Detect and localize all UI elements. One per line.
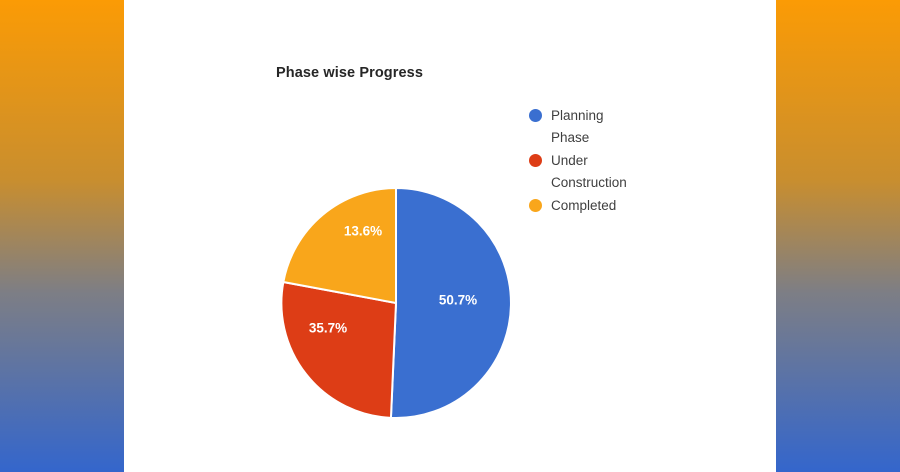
pie-data-label-under-construction: 35.7% [309,321,347,336]
legend-label-completed: Completed [551,195,616,217]
legend-label-line1: Under [551,153,588,168]
pie-data-label-planning-phase: 50.7% [439,293,477,308]
chart-legend[interactable]: PlanningPhase UnderConstruction Complete… [529,105,709,219]
legend-label-line2: Construction [551,175,627,190]
slide-canvas: Phase wise Progress 50.7% 35.7% 13.6% [0,0,900,472]
slide-content-panel: Phase wise Progress 50.7% 35.7% 13.6% [124,0,776,472]
pie-svg: 50.7% 35.7% 13.6% [281,188,511,418]
legend-color-swatch-icon [529,154,542,167]
legend-color-swatch-icon [529,109,542,122]
legend-color-swatch-icon [529,199,542,212]
chart-title: Phase wise Progress [276,65,423,81]
pie-slice-under-construction[interactable] [281,282,396,418]
pie-chart[interactable]: Phase wise Progress 50.7% 35.7% 13.6% [124,0,776,472]
legend-item-planning-phase[interactable]: PlanningPhase [529,105,709,148]
legend-label-line1: Planning [551,108,604,123]
legend-label-line2: Phase [551,130,589,145]
legend-label-under-construction: UnderConstruction [551,150,627,193]
pie-plot-area[interactable]: 50.7% 35.7% 13.6% [281,188,511,418]
pie-slice-completed[interactable] [283,188,396,303]
pie-data-label-completed: 13.6% [344,224,382,239]
legend-item-under-construction[interactable]: UnderConstruction [529,150,709,193]
legend-item-completed[interactable]: Completed [529,195,709,217]
legend-label-planning-phase: PlanningPhase [551,105,604,148]
